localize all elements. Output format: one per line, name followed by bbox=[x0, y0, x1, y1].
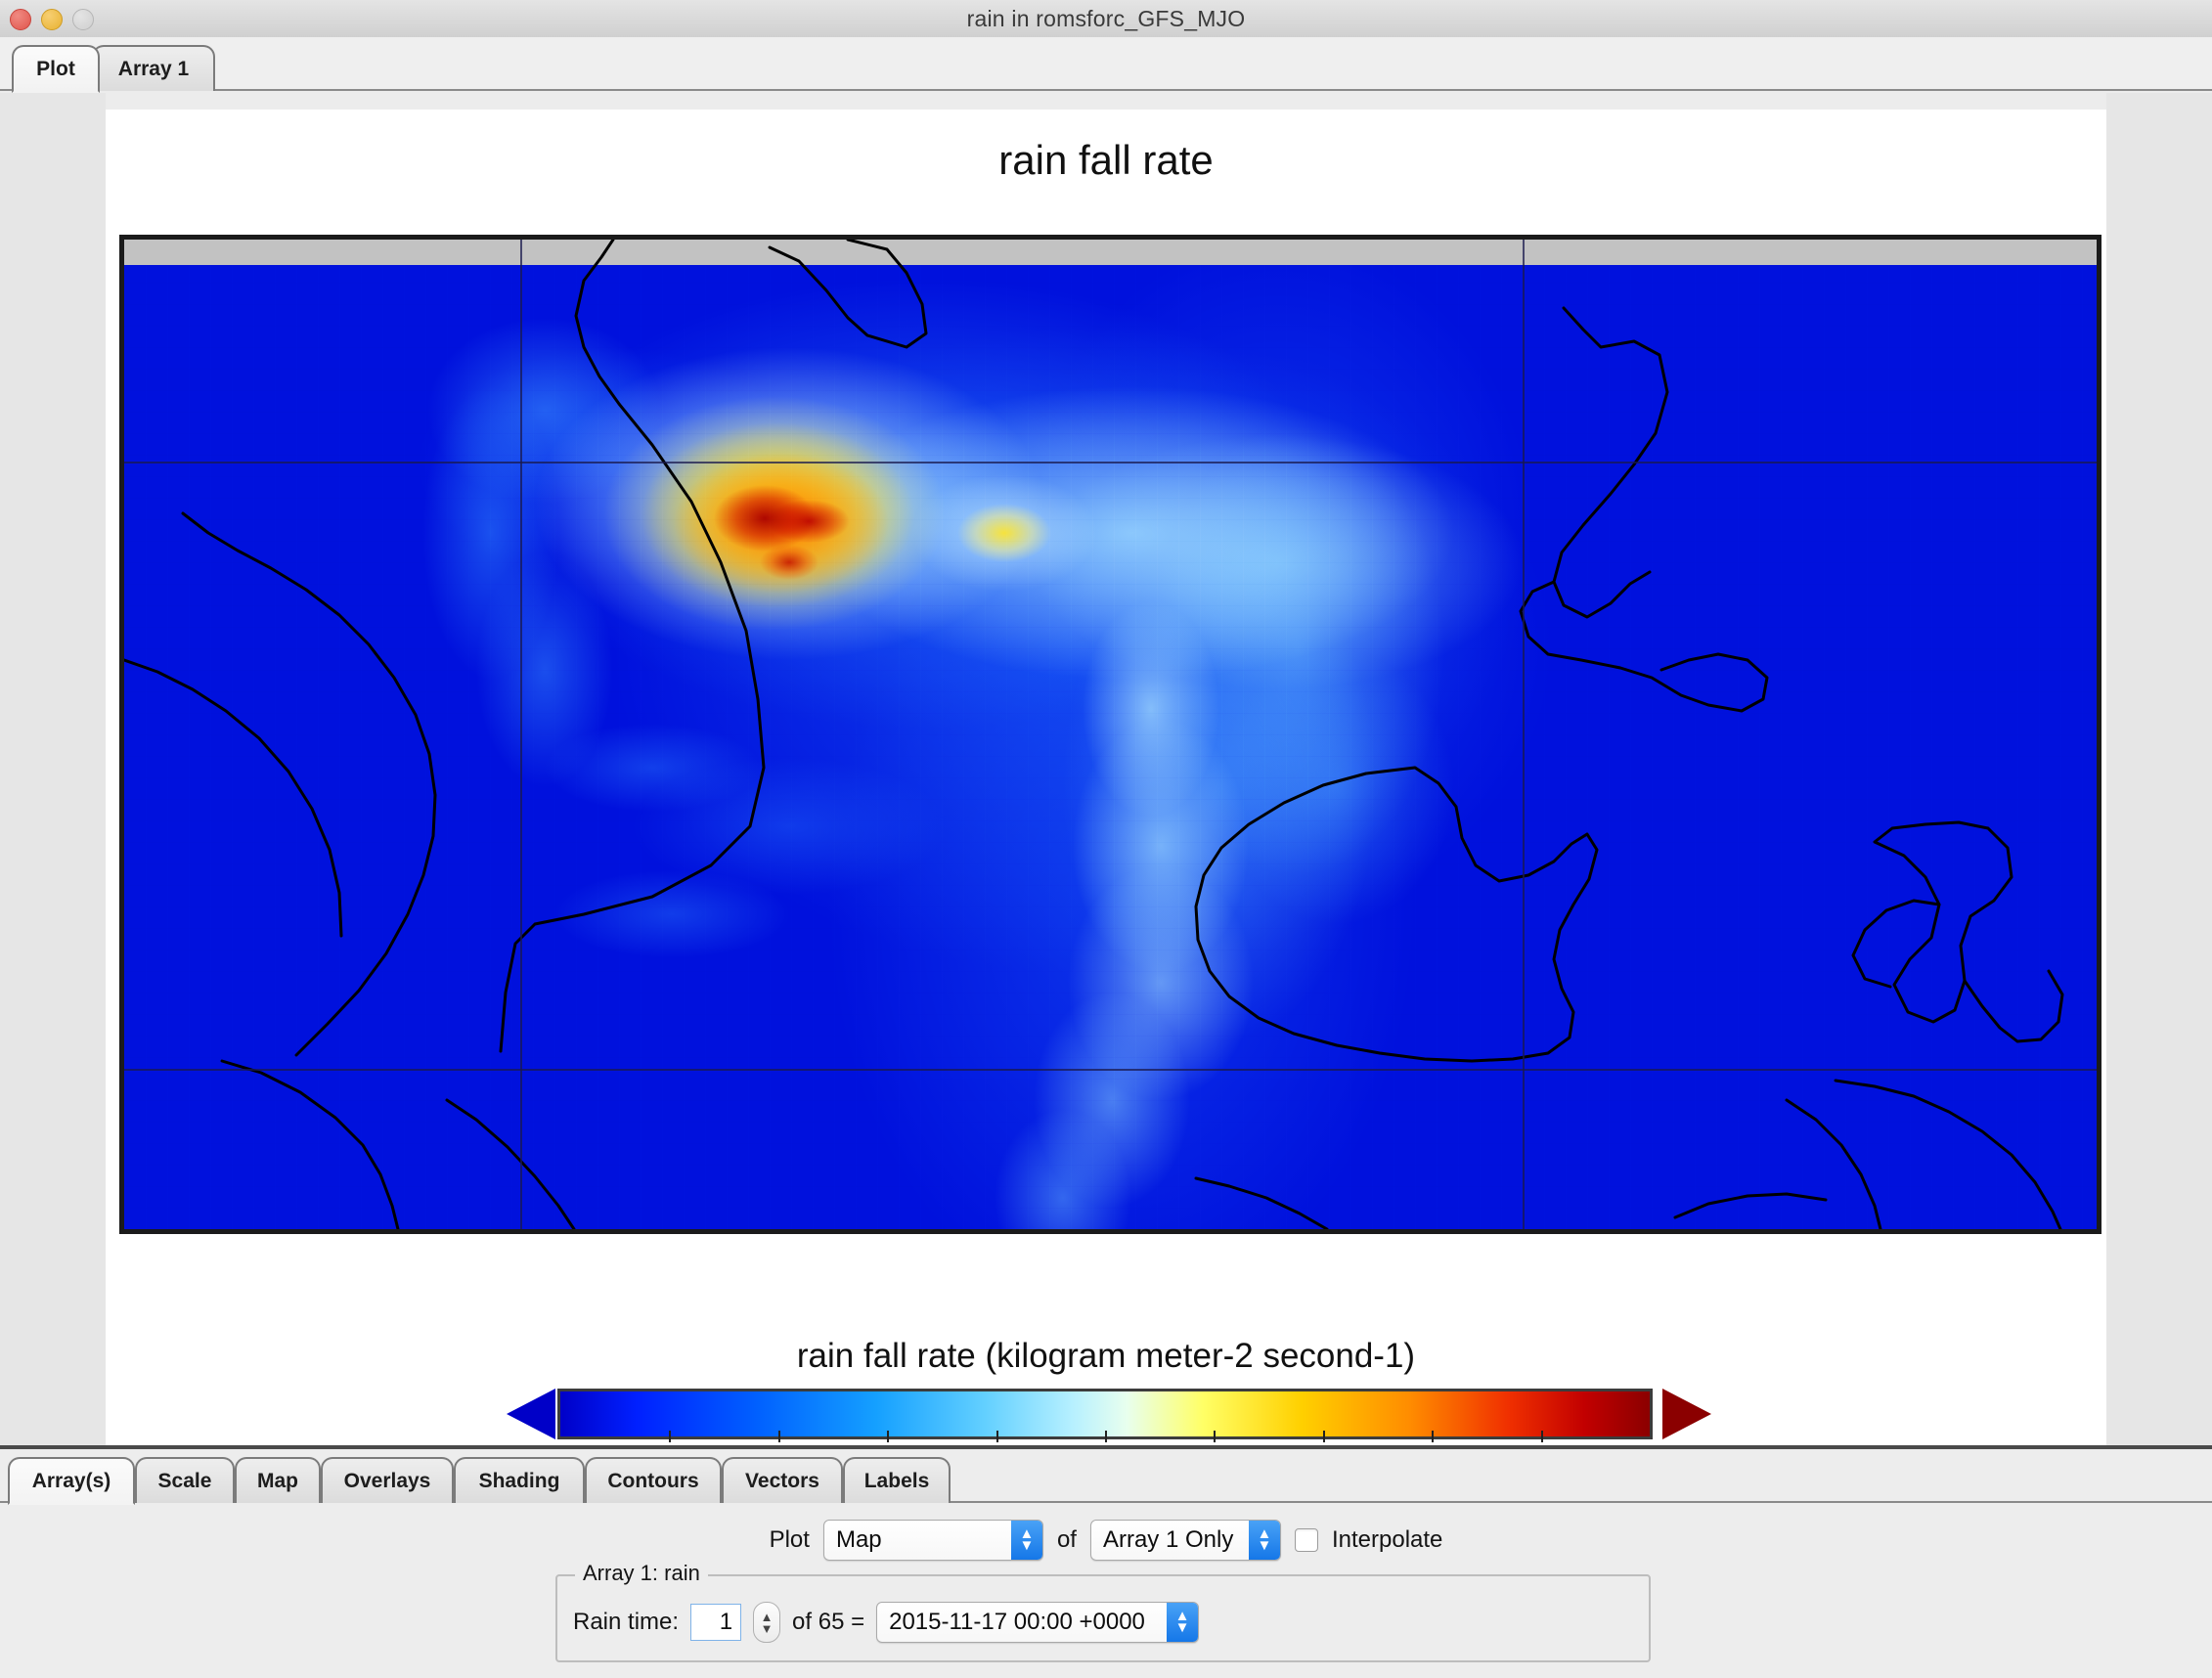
panel-left-margin bbox=[0, 93, 106, 1447]
colorbar-tick bbox=[1432, 1431, 1434, 1442]
plot-type-row: Plot Map ▲▼ of Array 1 Only ▲▼ Interpola… bbox=[0, 1516, 2212, 1565]
minimize-button[interactable] bbox=[41, 9, 63, 30]
rain-time-row: Rain time: 1 ▲▼ of 65 = 2015-11-17 00:00… bbox=[573, 1602, 1199, 1643]
interpolate-label: Interpolate bbox=[1332, 1526, 1442, 1554]
plot-title: rain fall rate bbox=[106, 137, 2106, 184]
gridline-vertical-left bbox=[520, 240, 522, 1229]
tab-map-label: Map bbox=[257, 1470, 298, 1493]
tab-map[interactable]: Map bbox=[235, 1457, 321, 1503]
tab-vectors[interactable]: Vectors bbox=[722, 1457, 843, 1503]
chevron-updown-icon[interactable]: ▲▼ bbox=[1167, 1603, 1198, 1642]
tab-labels-label: Labels bbox=[864, 1470, 930, 1493]
colorbar[interactable] bbox=[507, 1389, 1711, 1439]
plot-type-select[interactable]: Map ▲▼ bbox=[823, 1520, 1043, 1561]
tab-vectors-label: Vectors bbox=[745, 1470, 819, 1493]
tab-labels[interactable]: Labels bbox=[843, 1457, 951, 1503]
settings-panel: Array(s) Scale Map Overlays Shading Cont… bbox=[0, 1449, 2212, 1678]
colorbar-arrow-max-icon bbox=[1662, 1389, 1711, 1439]
tab-shading[interactable]: Shading bbox=[454, 1457, 585, 1503]
rain-time-date-select[interactable]: 2015-11-17 00:00 +0000 ▲▼ bbox=[876, 1602, 1199, 1643]
map-image bbox=[124, 240, 2097, 1229]
window-titlebar: rain in romsforc_GFS_MJO bbox=[0, 0, 2212, 38]
tab-contours[interactable]: Contours bbox=[585, 1457, 722, 1503]
of-label: of bbox=[1057, 1526, 1077, 1554]
colorbar-tick bbox=[1323, 1431, 1325, 1442]
colorbar-tick bbox=[1105, 1431, 1107, 1442]
gridline-horizontal-lower bbox=[124, 1069, 2097, 1071]
top-tab-bar: Plot Array 1 bbox=[0, 37, 2212, 91]
rain-time-count-label: of 65 = bbox=[792, 1609, 864, 1636]
gridline-vertical-right bbox=[1523, 240, 1525, 1229]
colorbar-tick bbox=[778, 1431, 780, 1442]
colorbar-arrow-min-icon bbox=[507, 1389, 555, 1439]
tab-shading-label: Shading bbox=[479, 1470, 560, 1493]
tab-arrays-label: Array(s) bbox=[32, 1470, 111, 1493]
colorbar-tick bbox=[887, 1431, 889, 1442]
rain-time-label: Rain time: bbox=[573, 1609, 679, 1636]
tab-overlays[interactable]: Overlays bbox=[321, 1457, 454, 1503]
array-1-group-title: Array 1: rain bbox=[575, 1561, 708, 1586]
colorbar-tick bbox=[1214, 1431, 1216, 1442]
tab-array-1[interactable]: Array 1 bbox=[92, 45, 215, 91]
colorbar-tick bbox=[996, 1431, 998, 1442]
tab-plot[interactable]: Plot bbox=[12, 45, 100, 93]
interpolate-checkbox[interactable] bbox=[1295, 1528, 1318, 1552]
tab-plot-label: Plot bbox=[36, 58, 75, 81]
chevron-updown-icon[interactable]: ▲▼ bbox=[1249, 1521, 1280, 1560]
colorbar-tick bbox=[669, 1431, 671, 1442]
chevron-updown-icon[interactable]: ▲▼ bbox=[1011, 1521, 1042, 1560]
plot-type-value: Map bbox=[824, 1526, 882, 1554]
array-1-group: Array 1: rain Rain time: 1 ▲▼ of 65 = 20… bbox=[555, 1574, 1651, 1662]
map-plot-area[interactable] bbox=[119, 235, 2101, 1234]
array-selection-value: Array 1 Only bbox=[1091, 1526, 1233, 1554]
tab-scale[interactable]: Scale bbox=[135, 1457, 235, 1503]
colorbar-tick bbox=[1541, 1431, 1543, 1442]
window-title: rain in romsforc_GFS_MJO bbox=[0, 6, 2212, 32]
colorbar-title: rain fall rate (kilogram meter-2 second-… bbox=[106, 1337, 2106, 1376]
window-traffic-lights bbox=[10, 9, 94, 30]
tab-array-1-label: Array 1 bbox=[118, 58, 189, 81]
rain-time-stepper[interactable]: ▲▼ bbox=[753, 1602, 780, 1643]
tab-scale-label: Scale bbox=[158, 1470, 212, 1493]
coastline-overlay bbox=[124, 240, 2097, 1229]
tab-overlays-label: Overlays bbox=[344, 1470, 431, 1493]
array-selection-select[interactable]: Array 1 Only ▲▼ bbox=[1090, 1520, 1281, 1561]
panel-right-margin bbox=[2106, 93, 2212, 1447]
rain-time-date-value: 2015-11-17 00:00 +0000 bbox=[877, 1609, 1145, 1636]
plot-canvas[interactable]: rain fall rate bbox=[106, 110, 2106, 1445]
zoom-button[interactable] bbox=[72, 9, 94, 30]
tab-contours-label: Contours bbox=[607, 1470, 698, 1493]
gridline-horizontal-upper bbox=[124, 462, 2097, 464]
plot-label: Plot bbox=[770, 1526, 810, 1554]
bottom-tab-bar: Array(s) Scale Map Overlays Shading Cont… bbox=[0, 1449, 2212, 1503]
tab-arrays[interactable]: Array(s) bbox=[8, 1457, 135, 1505]
colorbar-gradient bbox=[557, 1389, 1653, 1439]
rain-time-input[interactable]: 1 bbox=[690, 1604, 741, 1641]
close-button[interactable] bbox=[10, 9, 31, 30]
